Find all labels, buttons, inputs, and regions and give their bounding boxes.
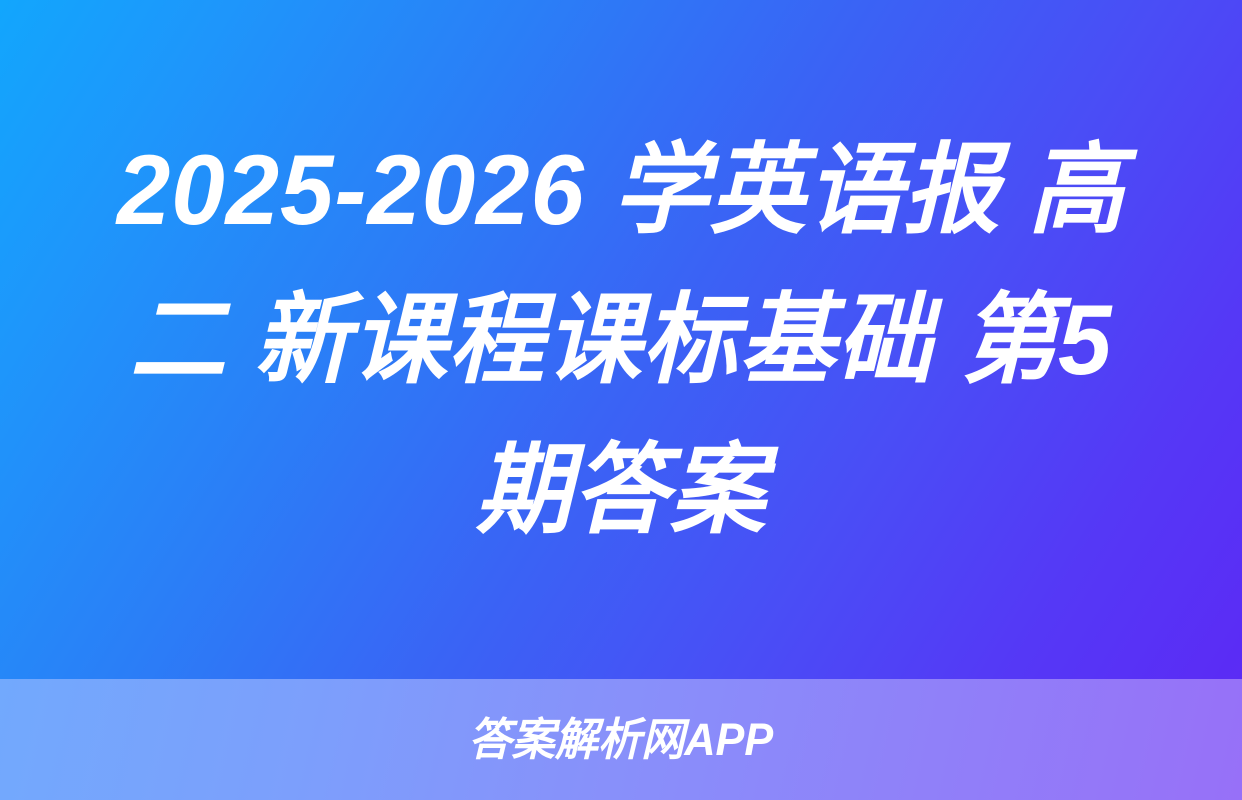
page-title-line-1: 2025-2026 学英语报 高 xyxy=(73,115,1169,265)
page-title-line-2: 二 新课程课标基础 第5 xyxy=(73,265,1169,415)
footer-watermark-band: 答案解析网APP xyxy=(0,679,1242,800)
app-watermark-label: 答案解析网APP xyxy=(469,714,774,766)
page-title: 2025-2026 学英语报 高 二 新课程课标基础 第5 期答案 xyxy=(56,115,1186,565)
hero-content: 2025-2026 学英语报 高 二 新课程课标基础 第5 期答案 xyxy=(0,0,1242,679)
answer-cover-card: 2025-2026 学英语报 高 二 新课程课标基础 第5 期答案 答案解析网A… xyxy=(0,0,1242,800)
page-title-line-3: 期答案 xyxy=(73,415,1169,565)
